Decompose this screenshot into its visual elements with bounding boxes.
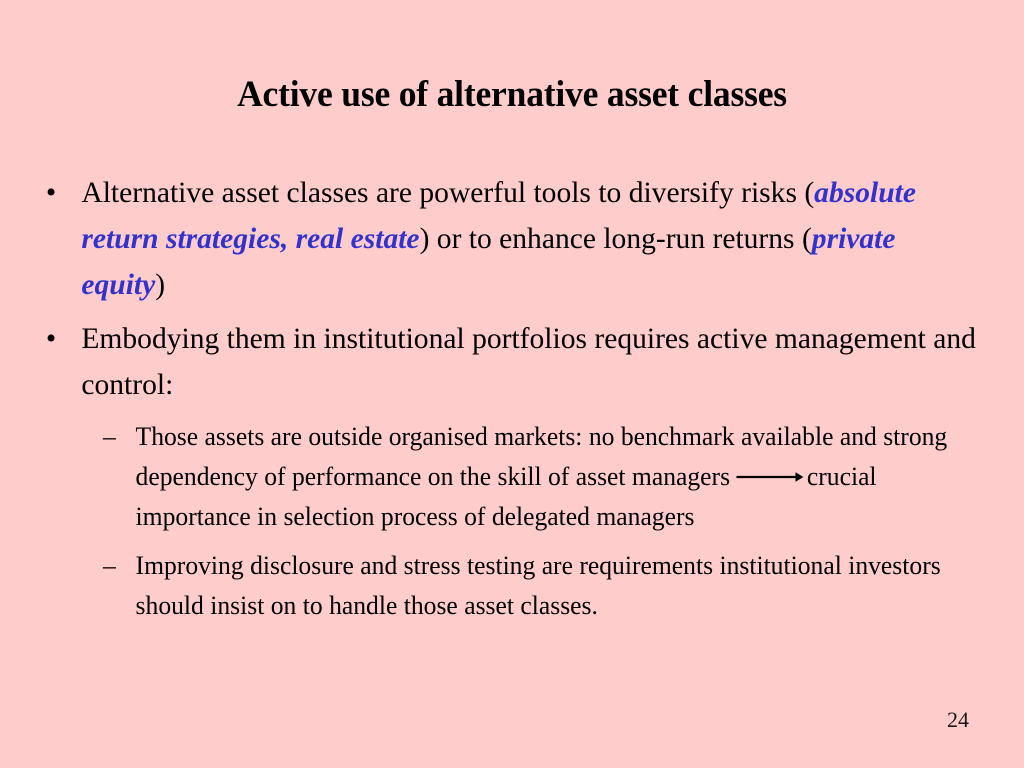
sub-bullet-text: Those assets are outside organised marke… <box>136 422 948 531</box>
sub-bullet-item: – Those assets are outside organised mar… <box>40 417 986 537</box>
sub-bullet-item: – Improving disclosure and stress testin… <box>40 546 986 626</box>
slide-body: • Alternative asset classes are powerful… <box>40 170 1000 626</box>
bullet-marker-icon: • <box>46 316 56 362</box>
bullet-run-text: ) or to enhance long-run returns ( <box>420 222 812 255</box>
bullet-run-text: Alternative asset classes are powerful t… <box>81 176 814 209</box>
sub-bullet-text: Improving disclosure and stress testing … <box>136 551 941 620</box>
page-title: Active use of alternative asset classes <box>20 73 1003 117</box>
dash-marker-icon: – <box>103 546 116 586</box>
bullet-run-text: ) <box>155 268 165 301</box>
dash-marker-icon: – <box>103 417 116 457</box>
bullet-marker-icon: • <box>46 170 56 216</box>
bullet-item: • Alternative asset classes are powerful… <box>40 170 986 308</box>
long-right-arrow-icon <box>736 468 803 486</box>
slide-canvas: Active use of alternative asset classes … <box>0 0 1024 768</box>
bullet-item: • Embodying them in institutional portfo… <box>40 316 986 408</box>
slide-page-number: 24 <box>947 707 969 733</box>
bullet-text: Embodying them in institutional portfoli… <box>81 322 976 401</box>
bullet-text: Alternative asset classes are powerful t… <box>81 176 916 301</box>
